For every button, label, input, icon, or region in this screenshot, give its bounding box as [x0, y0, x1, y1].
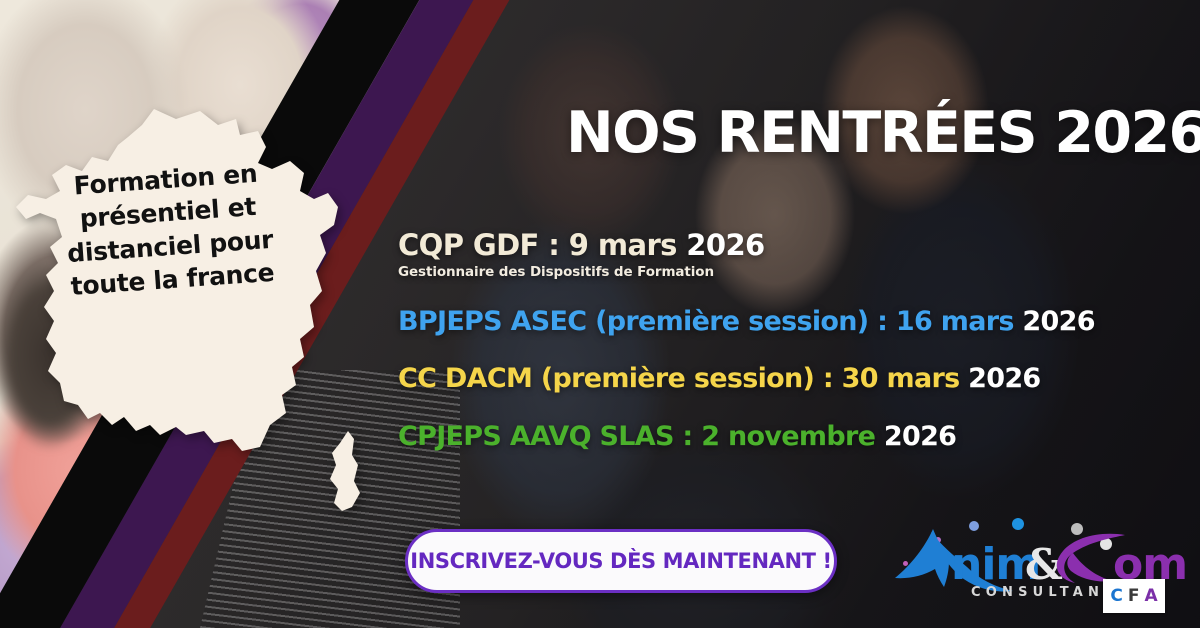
cfa-letter-a: A [1144, 586, 1157, 606]
course-year: 2026 [875, 421, 956, 452]
course-row: BPJEPS ASEC (première session) : 16 mars… [398, 306, 1188, 337]
course-separator: : [868, 306, 896, 337]
course-year: 2026 [959, 363, 1040, 394]
brand-logo[interactable]: nim & om CONSULTANT C F A [885, 505, 1190, 623]
course-name: CPJEPS AAVQ SLAS [398, 421, 674, 452]
page-title: NOS RENTRÉES 2026 [566, 100, 1200, 166]
promo-banner: Formation en présentiel et distanciel po… [0, 0, 1200, 628]
signup-button[interactable]: INSCRIVEZ-VOUS DÈS MAINTENANT ! [405, 529, 837, 593]
signup-button-label: INSCRIVEZ-VOUS DÈS MAINTENANT ! [410, 549, 831, 573]
course-date: 9 mars [569, 228, 677, 262]
course-row: CQP GDF : 9 mars 2026 [398, 228, 1188, 262]
course-row: CPJEPS AAVQ SLAS : 2 novembre 2026 [398, 421, 1188, 452]
course-date: 16 mars [896, 306, 1014, 337]
cfa-badge: C F A [1103, 579, 1165, 613]
france-map-callout: Formation en présentiel et distanciel po… [4, 95, 384, 525]
france-map-shape [4, 95, 384, 525]
cfa-letter-c: C [1110, 586, 1122, 606]
course-year: 2026 [677, 228, 765, 262]
course-date: 30 mars [842, 363, 960, 394]
logo-a-swoosh [895, 529, 949, 587]
course-name: CQP GDF [398, 228, 539, 262]
corsica-shape [330, 431, 360, 511]
logo-tagline: CONSULTANT [971, 585, 1118, 600]
course-subtitle: Gestionnaire des Dispositifs de Formatio… [398, 264, 1188, 280]
course-date: 2 novembre [701, 421, 875, 452]
course-name: CC DACM (première session) [398, 363, 814, 394]
course-separator: : [674, 421, 702, 452]
course-separator: : [539, 228, 569, 262]
course-name: BPJEPS ASEC (première session) [398, 306, 868, 337]
course-separator: : [814, 363, 842, 394]
map-callout-text: Formation en présentiel et distanciel po… [30, 154, 309, 306]
course-list: CQP GDF : 9 mars 2026 Gestionnaire des D… [398, 228, 1188, 452]
course-row: CC DACM (première session) : 30 mars 202… [398, 363, 1188, 394]
course-year: 2026 [1014, 306, 1095, 337]
cfa-letter-f: F [1128, 586, 1140, 606]
